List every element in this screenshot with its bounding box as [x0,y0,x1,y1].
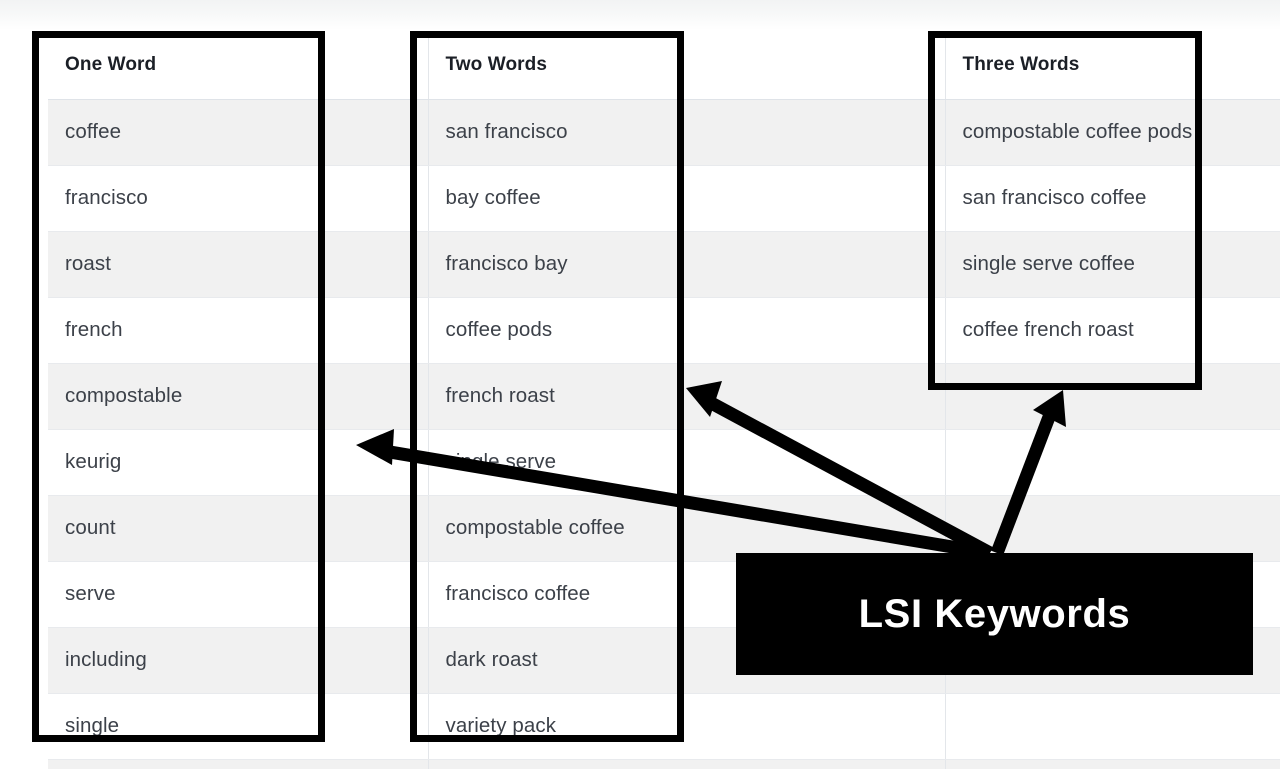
column-header-two-words[interactable]: Two Words [428,31,945,99]
screenshot-root: One Word Two Words Three Words coffee sa… [0,0,1280,769]
cell-two-words: compostable coffee [428,495,945,561]
cell-one-word: francisco [48,165,428,231]
table-row [48,759,1280,769]
lsi-keywords-label-text: LSI Keywords [859,592,1131,637]
cell-one-word: serve [48,561,428,627]
cell-three-words [945,495,1280,561]
cell-two-words: francisco bay [428,231,945,297]
cell-two-words: single serve [428,429,945,495]
table-row: single variety pack [48,693,1280,759]
cell-two-words: french roast [428,363,945,429]
cell-one-word [48,759,428,769]
cell-two-words: bay coffee [428,165,945,231]
cell-two-words [428,759,945,769]
cell-three-words: coffee french roast [945,297,1280,363]
cell-one-word: roast [48,231,428,297]
table-header-row: One Word Two Words Three Words [48,31,1280,99]
cell-three-words: san francisco coffee [945,165,1280,231]
cell-one-word: count [48,495,428,561]
cell-one-word: coffee [48,99,428,165]
cell-three-words: compostable coffee pods [945,99,1280,165]
cell-three-words [945,429,1280,495]
cell-one-word: keurig [48,429,428,495]
cell-three-words [945,759,1280,769]
cell-three-words: single serve coffee [945,231,1280,297]
column-header-three-words[interactable]: Three Words [945,31,1280,99]
table-row: keurig single serve [48,429,1280,495]
cell-three-words [945,363,1280,429]
cell-one-word: single [48,693,428,759]
cell-three-words [945,693,1280,759]
table-header: One Word Two Words Three Words [48,31,1280,99]
cell-one-word: compostable [48,363,428,429]
cell-two-words: variety pack [428,693,945,759]
table-row: francisco bay coffee san francisco coffe… [48,165,1280,231]
table-row: compostable french roast [48,363,1280,429]
table-row: roast francisco bay single serve coffee [48,231,1280,297]
cell-two-words: coffee pods [428,297,945,363]
table-row: coffee san francisco compostable coffee … [48,99,1280,165]
column-header-one-word[interactable]: One Word [48,31,428,99]
table-row: french coffee pods coffee french roast [48,297,1280,363]
cell-one-word: including [48,627,428,693]
lsi-keywords-label: LSI Keywords [736,553,1253,675]
cell-one-word: french [48,297,428,363]
page-top-gradient [0,0,1280,30]
cell-two-words: san francisco [428,99,945,165]
table-row: count compostable coffee [48,495,1280,561]
